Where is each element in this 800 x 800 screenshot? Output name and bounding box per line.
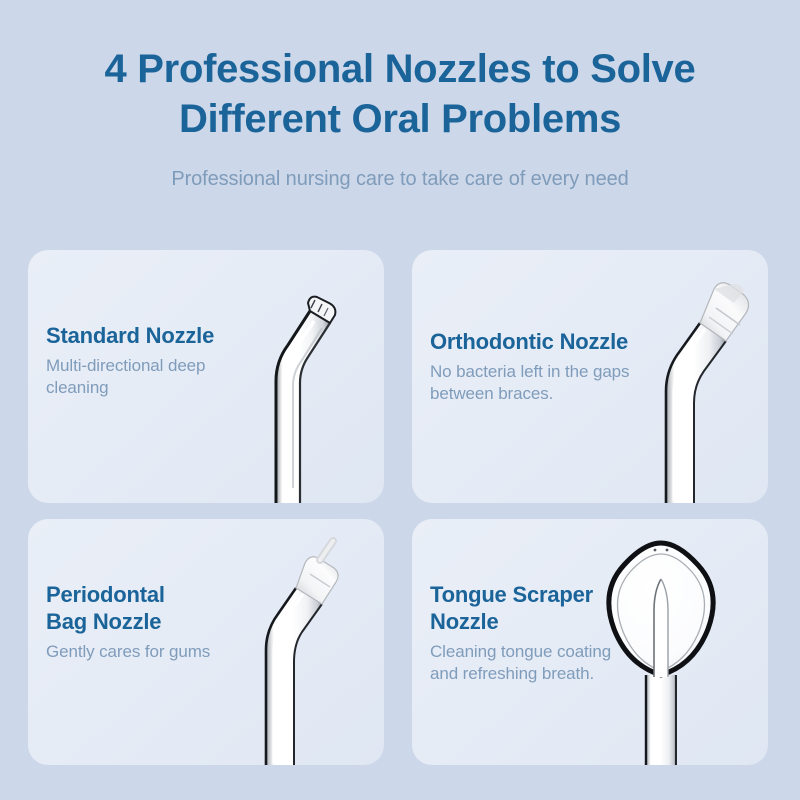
nozzle-card-grid: Standard Nozzle Multi-directional deep c… (28, 250, 772, 765)
card-title: Tongue Scraper Nozzle (430, 581, 696, 635)
nozzle-card-standard[interactable]: Standard Nozzle Multi-directional deep c… (28, 250, 384, 503)
card-text-block: Orthodontic Nozzle No bacteria left in t… (430, 328, 696, 405)
nozzle-card-periodontal[interactable]: Periodontal Bag Nozzle Gently cares for … (28, 519, 384, 765)
card-description: Multi-directional deep cleaning (46, 355, 306, 399)
page-title-line-2: Different Oral Problems (179, 97, 621, 141)
card-title: Periodontal Bag Nozzle (46, 581, 306, 635)
page-title-line-1: 4 Professional Nozzles to Solve (105, 47, 696, 91)
card-title: Orthodontic Nozzle (430, 328, 696, 355)
promo-page: 4 Professional Nozzles to Solve Differen… (0, 0, 800, 800)
nozzle-card-orthodontic[interactable]: Orthodontic Nozzle No bacteria left in t… (412, 250, 768, 503)
nozzle-card-tongue-scraper[interactable]: Tongue Scraper Nozzle Cleaning tongue co… (412, 519, 768, 765)
card-text-block: Tongue Scraper Nozzle Cleaning tongue co… (430, 581, 696, 685)
page-subtitle: Professional nursing care to take care o… (0, 166, 800, 192)
page-title: 4 Professional Nozzles to Solve Differen… (0, 44, 800, 144)
card-description: No bacteria left in the gaps between bra… (430, 361, 696, 405)
header: 4 Professional Nozzles to Solve Differen… (0, 0, 800, 192)
card-text-block: Standard Nozzle Multi-directional deep c… (46, 322, 306, 399)
card-title: Standard Nozzle (46, 322, 306, 349)
card-description: Gently cares for gums (46, 641, 306, 663)
card-text-block: Periodontal Bag Nozzle Gently cares for … (46, 581, 306, 663)
card-description: Cleaning tongue coating and refreshing b… (430, 641, 696, 685)
